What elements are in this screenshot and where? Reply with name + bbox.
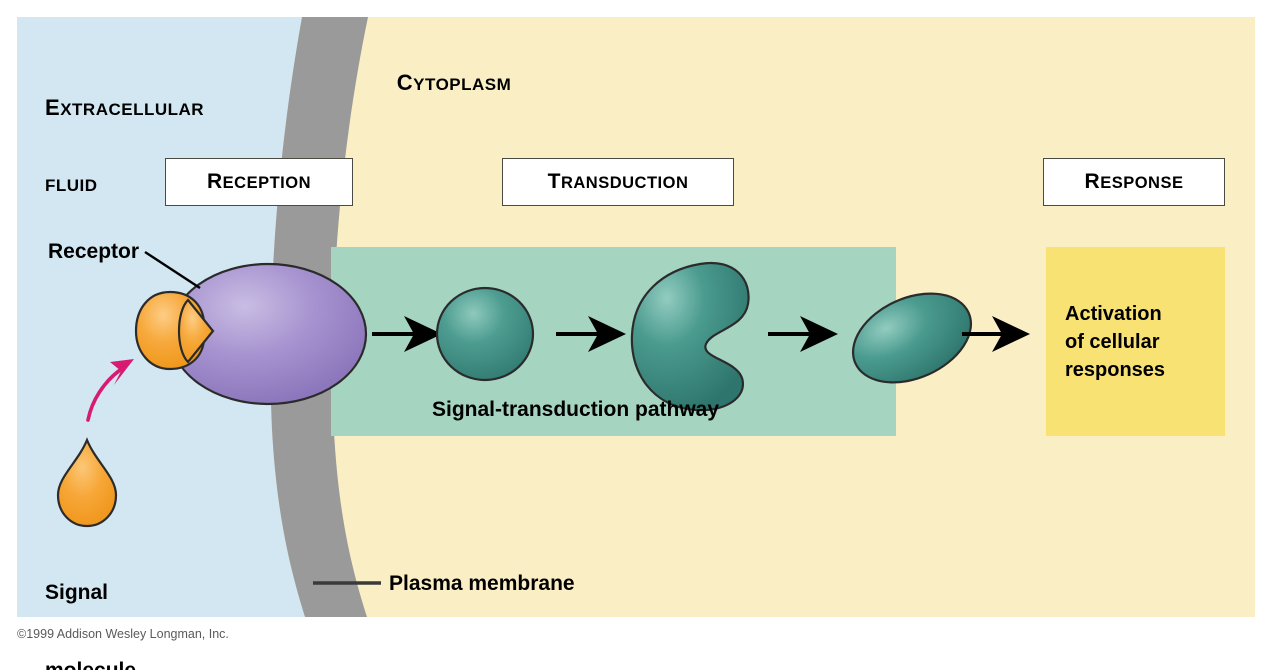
extracellular-fluid-label: EXTRACELLULAR FLUID — [45, 45, 204, 249]
stage-box-response[interactable]: RESPONSE — [1043, 158, 1225, 206]
transduction-label-cap: T — [548, 170, 561, 193]
activation-line-1: Activation — [1065, 300, 1225, 328]
protein-relay-1 — [437, 288, 533, 380]
copyright-notice: ©1999 Addison Wesley Longman, Inc. — [17, 627, 229, 641]
response-label-cap: R — [1085, 170, 1101, 193]
extracellular-label-rest: XTRACELLULAR — [60, 100, 204, 119]
response-label-rest: ESPONSE — [1100, 174, 1183, 192]
cytoplasm-label: CYTOPLASM — [377, 45, 511, 123]
transduction-label-rest: RANSDUCTION — [561, 174, 688, 192]
receptor-label: Receptor — [48, 240, 139, 264]
extracellular-label-line2: FLUID — [45, 176, 98, 195]
signal-molecule-label: Signal molecule — [45, 528, 136, 670]
signal-transduction-pathway-label: Signal-transduction pathway — [432, 398, 719, 422]
reception-label-rest: ECEPTION — [223, 174, 311, 192]
signal-molecule-label-line2: molecule — [45, 658, 136, 670]
activation-responses-label: Activation of cellular responses — [1065, 300, 1225, 384]
reception-label-cap: R — [207, 170, 223, 193]
activation-line-3: responses — [1065, 356, 1225, 384]
stage-box-reception[interactable]: RECEPTION — [165, 158, 353, 206]
extracellular-label-cap: E — [45, 95, 60, 120]
stage-box-transduction[interactable]: TRANSDUCTION — [502, 158, 734, 206]
cytoplasm-label-cap: C — [397, 70, 413, 95]
activation-line-2: of cellular — [1065, 328, 1225, 356]
signal-molecule-label-line1: Signal — [45, 580, 136, 606]
plasma-membrane-label: Plasma membrane — [389, 572, 575, 596]
figure-canvas: EXTRACELLULAR FLUID CYTOPLASM RECEPTION … — [0, 0, 1272, 670]
cytoplasm-label-rest: YTOPLASM — [413, 75, 511, 94]
